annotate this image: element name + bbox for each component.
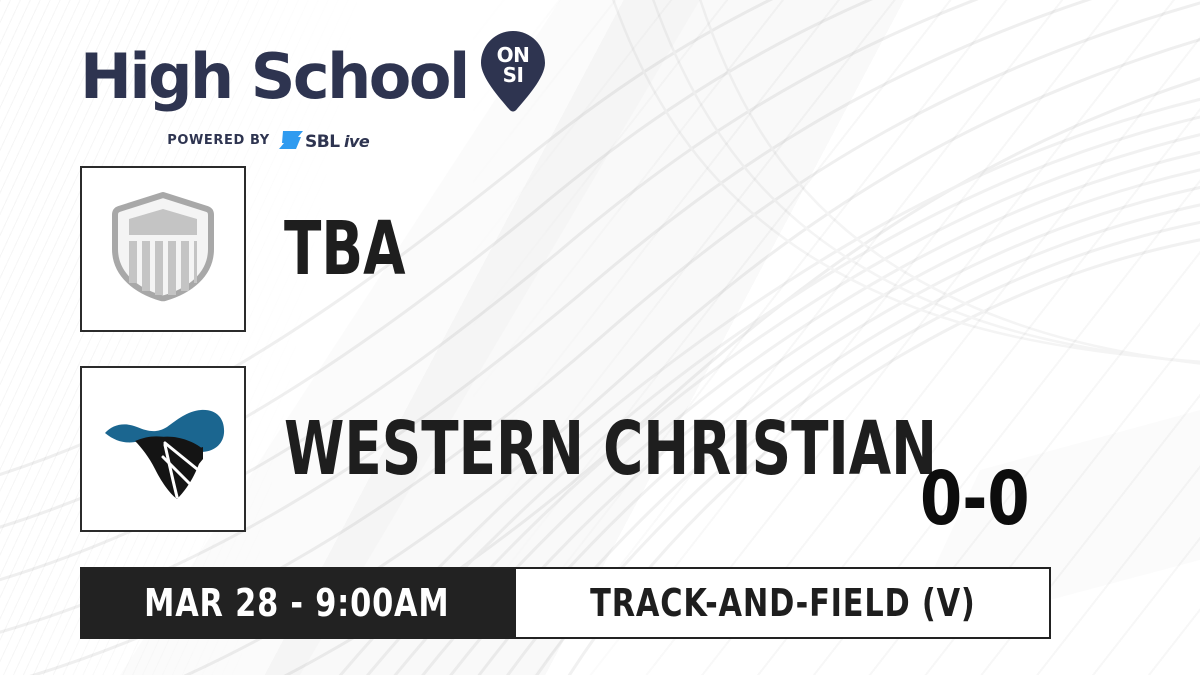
game-datetime-block: MAR 28 - 9:00AM [80,567,514,639]
sblive-logo: SBL ive [279,128,385,152]
game-sport-block: TRACK-AND-FIELD (V) [514,567,1052,639]
team-1-logo-box [80,166,246,332]
on-si-pin-icon: ON SI [480,30,546,119]
brand-row: High School ON SI [80,34,510,119]
game-scorecard: High School ON SI POWERED BY SBL ive [0,0,1200,675]
brand-logo: High School ON SI POWERED BY SBL ive [80,34,510,134]
spartan-helmet-icon [99,389,227,510]
team-2-logo-box [80,366,246,532]
sblive-text-ive: ive [344,132,370,151]
pin-label-si: SI [502,63,523,87]
sblive-text-sbl: SBL [305,132,340,152]
powered-by-row: POWERED BY SBL ive [86,128,466,152]
team-2-name: WESTERN CHRISTIAN [284,412,937,486]
powered-by-label: POWERED BY [167,133,270,148]
score-display: 0-0 [920,462,1030,536]
shield-placeholder-icon [111,191,215,308]
game-datetime-label: MAR 28 - 9:00AM [144,584,449,622]
brand-title: High School [80,46,468,108]
team-1-name: TBA [284,212,405,286]
game-sport-label: TRACK-AND-FIELD (V) [590,584,975,622]
team-row-1: TBA [80,166,448,332]
game-info-bar: MAR 28 - 9:00AM TRACK-AND-FIELD (V) [80,567,1051,639]
